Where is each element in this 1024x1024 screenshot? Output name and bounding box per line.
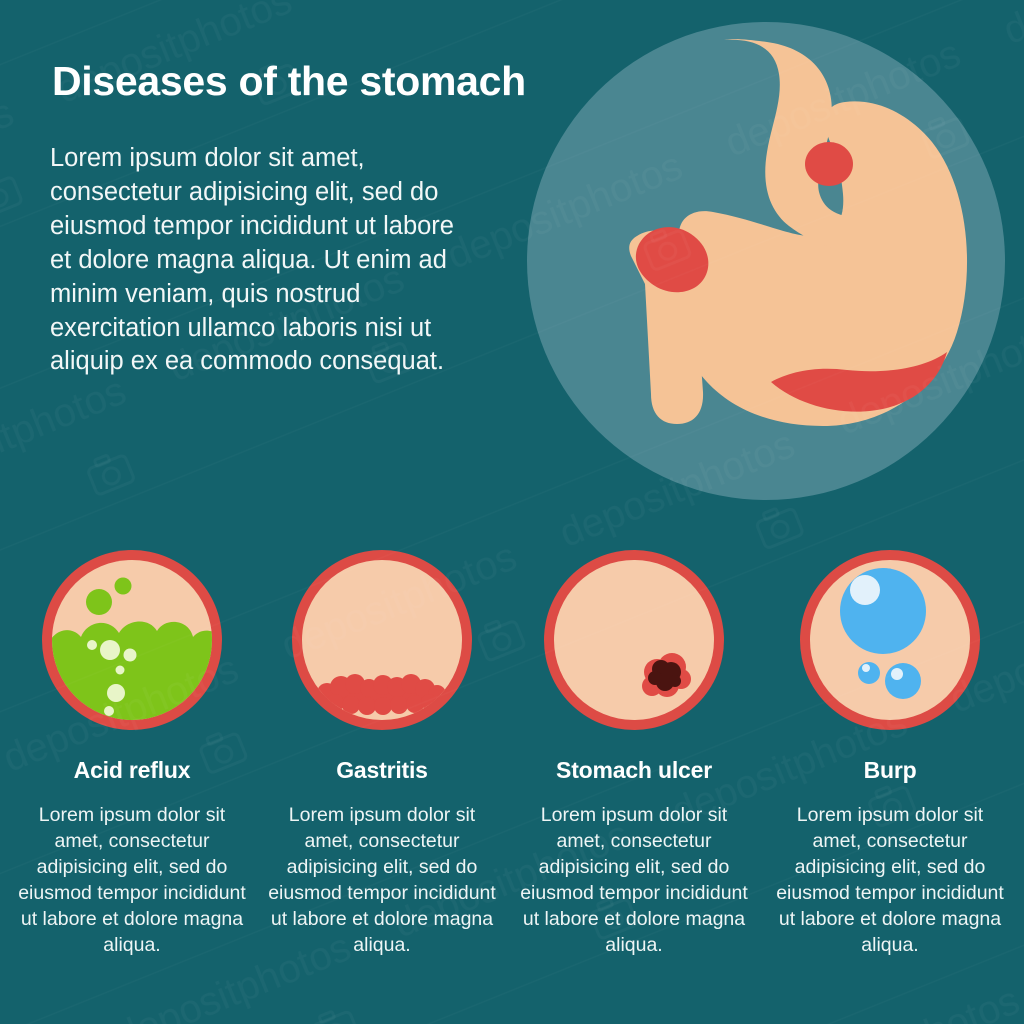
burp-icon[interactable] xyxy=(795,545,985,735)
stomach-anatomy-icon xyxy=(527,22,1005,500)
stomach-ulcer-icon[interactable] xyxy=(539,545,729,735)
intro-paragraph: Lorem ipsum dolor sit amet, consectetur … xyxy=(50,142,475,379)
card-title: Burp xyxy=(864,757,917,784)
page-title: Diseases of the stomach xyxy=(52,59,572,104)
disease-card-acid-reflux[interactable]: Acid reflux Lorem ipsum dolor sit amet, … xyxy=(7,545,257,959)
acid-reflux-icon[interactable] xyxy=(37,545,227,735)
infographic-poster: Diseases of the stomach Lorem ipsum dolo… xyxy=(0,0,1024,1024)
disease-card-gastritis[interactable]: Gastritis Lorem ipsum dolor sit amet, co… xyxy=(257,545,507,959)
card-description: Lorem ipsum dolor sit amet, consectetur … xyxy=(776,803,1004,959)
card-title: Stomach ulcer xyxy=(556,757,712,784)
gastritis-icon[interactable] xyxy=(287,545,477,735)
card-title: Gastritis xyxy=(336,757,428,784)
card-description: Lorem ipsum dolor sit amet, consectetur … xyxy=(18,803,246,959)
card-description: Lorem ipsum dolor sit amet, consectetur … xyxy=(268,803,496,959)
disease-card-list: Acid reflux Lorem ipsum dolor sit amet, … xyxy=(0,545,1024,959)
card-description: Lorem ipsum dolor sit amet, consectetur … xyxy=(520,803,748,959)
card-title: Acid reflux xyxy=(74,757,191,784)
disease-card-stomach-ulcer[interactable]: Stomach ulcer Lorem ipsum dolor sit amet… xyxy=(509,545,759,959)
disease-card-burp[interactable]: Burp Lorem ipsum dolor sit amet, consect… xyxy=(765,545,1015,959)
